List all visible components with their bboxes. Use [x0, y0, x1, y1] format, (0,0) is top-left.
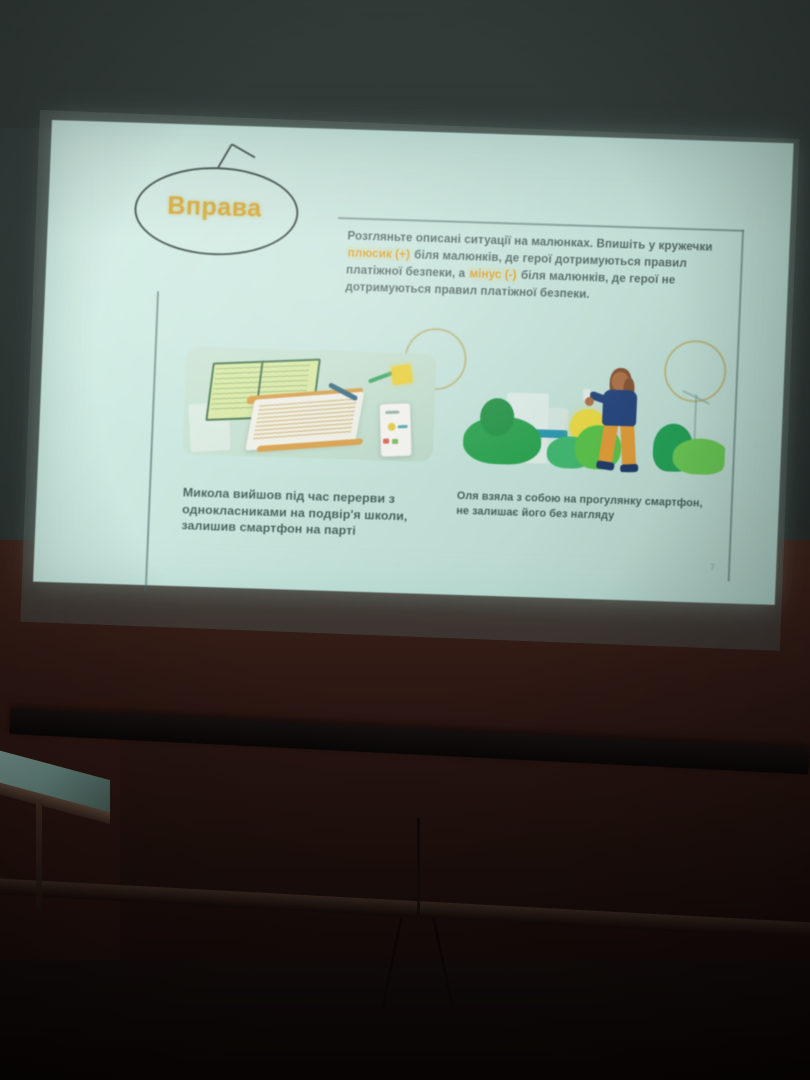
smartphone-screen-line-2: [398, 425, 408, 428]
instruction-line-5: правил платіжної безпеки.: [434, 283, 590, 301]
highlight-plus: плюсик (+): [347, 246, 412, 261]
smartphone-screen-line: [385, 411, 399, 415]
person-torso: [602, 389, 637, 426]
illustration-desk-with-smartphone: [182, 346, 436, 462]
instruction-line-2-post: біля малюнків, де герої: [411, 248, 552, 265]
highlight-minus: мінус (-): [468, 267, 518, 282]
instruction-line-2-pre: у кружечки: [648, 239, 712, 254]
content-frame-left-line: [145, 291, 159, 591]
floor: [0, 960, 810, 1080]
slide-page-number: 7: [710, 563, 715, 572]
person-leg-right: [620, 422, 636, 469]
photo-of-classroom-projection: Вправа Розгляньте описані ситуації на ма…: [0, 0, 810, 1080]
illustration-person-in-park: [456, 361, 728, 475]
tripod-pole: [417, 818, 420, 930]
smartphone-button-red: [383, 439, 389, 444]
projected-slide: Вправа Розгляньте описані ситуації на ма…: [33, 120, 794, 605]
person-hand: [585, 397, 594, 406]
caption-item-1: Микола вийшов під час перерви з одноклас…: [181, 484, 435, 542]
smartphone-button-green: [392, 439, 398, 444]
bush-icon-4: [672, 438, 728, 476]
caption-item-2: Оля взяла з собою на прогулянку смартфон…: [456, 489, 707, 527]
book-text-lines: [253, 398, 358, 442]
exercise-badge-label: Вправа: [136, 191, 293, 225]
desk-leg: [36, 800, 42, 910]
sticky-note-icon: [391, 364, 413, 386]
person-shoe-right: [620, 464, 638, 473]
instruction-paragraph: Розгляньте описані ситуації на малюнках.…: [345, 227, 740, 307]
screen-upper-dark-area: [0, 0, 810, 128]
